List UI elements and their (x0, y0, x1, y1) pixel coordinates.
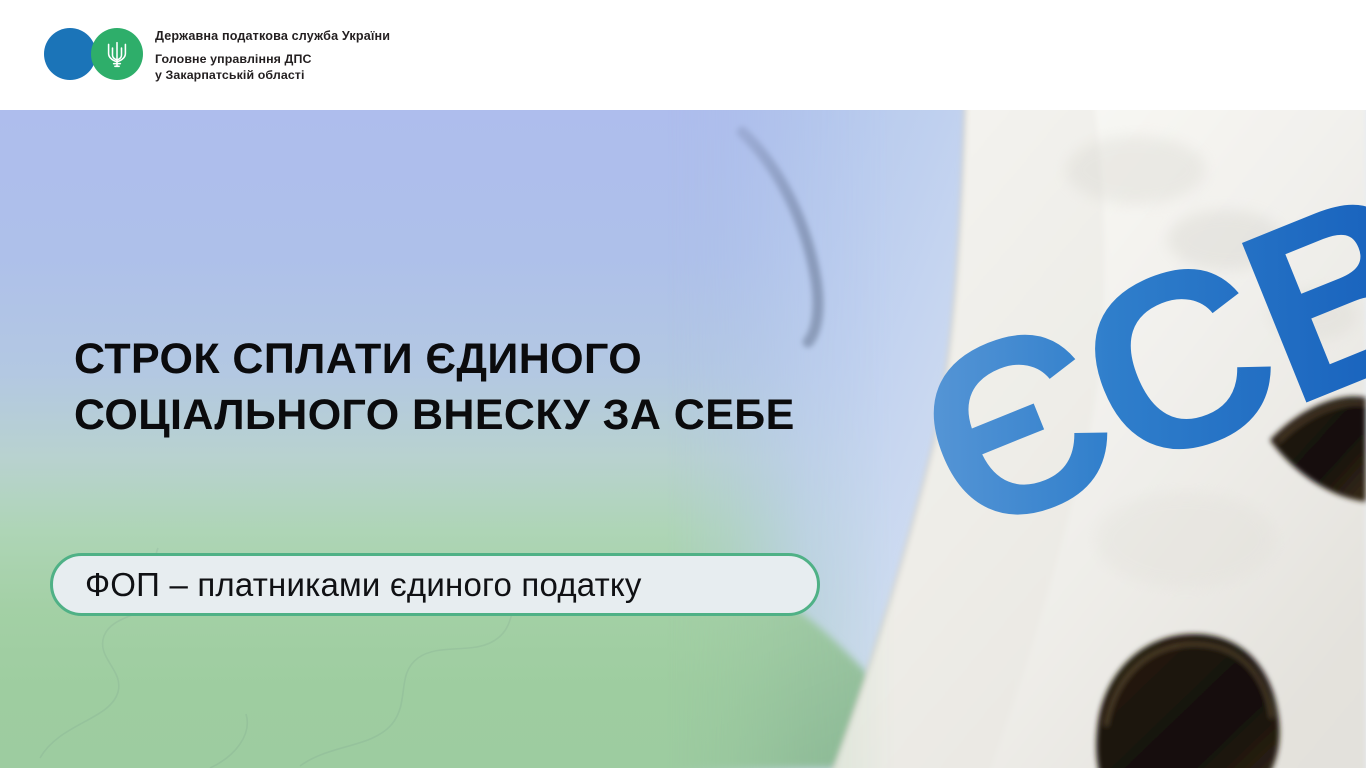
logo-green-circle-icon (91, 28, 143, 80)
hero-banner: ЄСВ СТРОК СПЛАТИ ЄДИНОГО СОЦІАЛЬНОГО ВНЕ… (0, 110, 1366, 768)
slide-root: Державна податкова служба України Головн… (0, 0, 1366, 768)
headline-line-2: СОЦІАЛЬНОГО ВНЕСКУ ЗА СЕБЕ (74, 388, 894, 444)
header-bar: Державна податкова служба України Головн… (0, 0, 1366, 110)
hero-headline: СТРОК СПЛАТИ ЄДИНОГО СОЦІАЛЬНОГО ВНЕСКУ … (74, 332, 894, 444)
logo-marks (44, 28, 143, 80)
org-line-2: Головне управління ДПС (155, 51, 390, 67)
brand-block[interactable]: Державна податкова служба України Головн… (44, 28, 390, 83)
logo-blue-circle-icon (44, 28, 96, 80)
subtitle-pill: ФОП – платниками єдиного податку (50, 553, 820, 616)
ukraine-trident-icon (105, 39, 129, 69)
subtitle-pill-text: ФОП – платниками єдиного податку (53, 566, 642, 604)
headline-line-1: СТРОК СПЛАТИ ЄДИНОГО (74, 332, 894, 388)
org-line-1: Державна податкова служба України (155, 29, 390, 45)
org-line-3: у Закарпатській області (155, 67, 390, 83)
org-name-block: Державна податкова служба України Головн… (155, 28, 390, 83)
